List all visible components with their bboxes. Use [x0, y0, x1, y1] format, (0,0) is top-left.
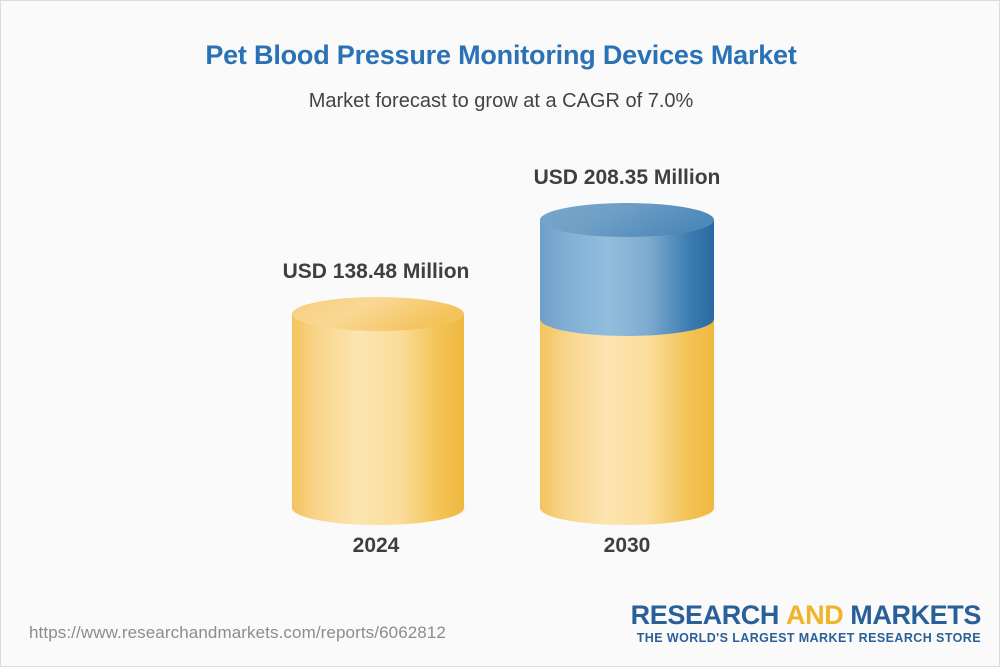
logo-word-markets: MARKETS	[850, 600, 981, 630]
logo-word-and: AND	[786, 600, 843, 630]
cylinder-2024-svg	[290, 297, 466, 525]
cylinder-2030-base-segment	[540, 319, 714, 525]
logo-wordmark: RESEARCHANDMARKETS	[631, 601, 981, 629]
cylinder-bar-2024	[290, 297, 466, 525]
cylinder-2030-growth-segment	[540, 220, 714, 336]
value-label-2024: USD 138.48 Million	[216, 260, 536, 284]
logo-tagline: THE WORLD'S LARGEST MARKET RESEARCH STOR…	[631, 631, 981, 646]
cylinder-2030-svg	[538, 203, 716, 525]
cylinder-2030-top	[540, 203, 714, 237]
value-label-2030: USD 208.35 Million	[467, 166, 787, 190]
logo-word-research: RESEARCH	[631, 600, 779, 630]
plot-area: USD 138.48 Million	[1, 1, 1000, 667]
cylinder-2024-top	[292, 297, 464, 331]
source-url[interactable]: https://www.researchandmarkets.com/repor…	[29, 623, 446, 643]
category-label-2030: 2030	[467, 534, 787, 558]
chart-canvas: Pet Blood Pressure Monitoring Devices Ma…	[0, 0, 1000, 667]
brand-logo[interactable]: RESEARCHANDMARKETS THE WORLD'S LARGEST M…	[631, 601, 981, 646]
cylinder-bar-2030	[538, 203, 716, 525]
cylinder-2024-body	[292, 314, 464, 525]
